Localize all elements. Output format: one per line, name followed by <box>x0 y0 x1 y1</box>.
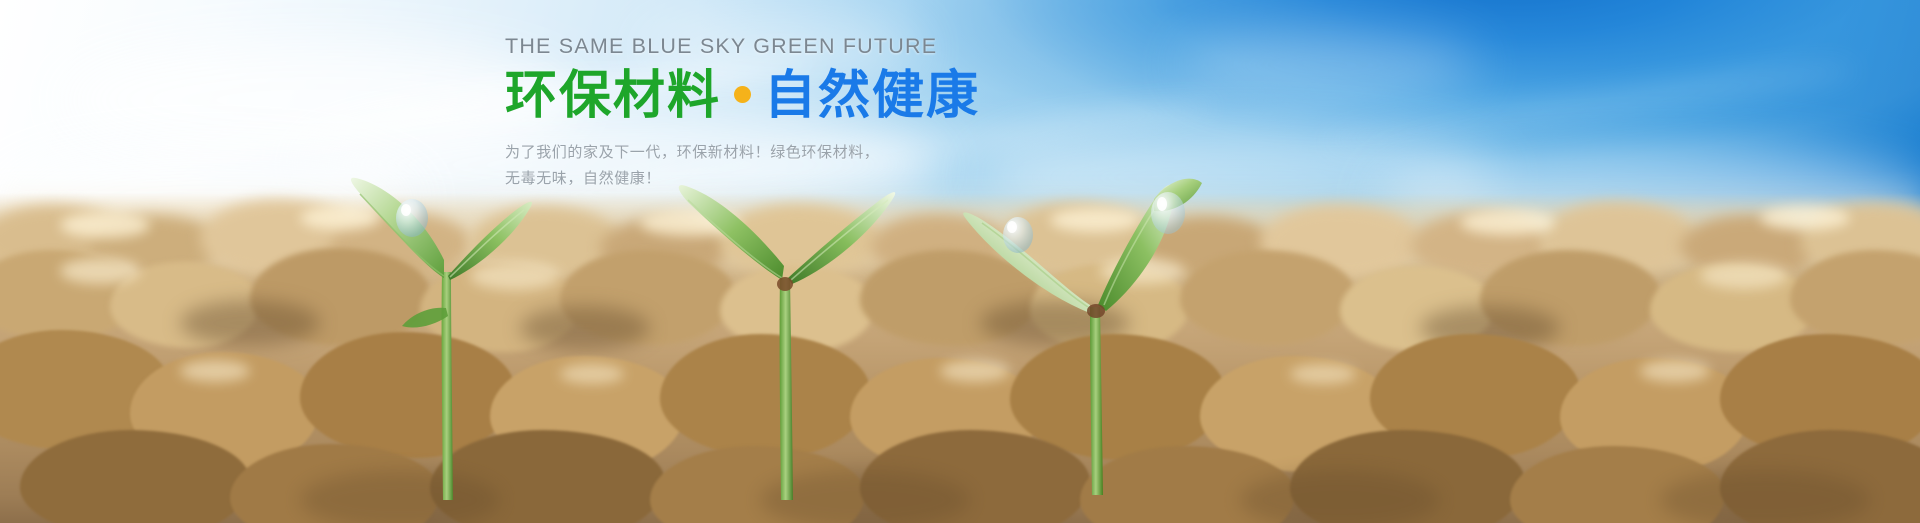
hero-subcopy: 为了我们的家及下一代，环保新材料！绿色环保材料， 无毒无味，自然健康！ <box>505 140 1065 193</box>
cloud-wisp <box>1180 30 1480 100</box>
hero-eyebrow: THE SAME BLUE SKY GREEN FUTURE <box>505 36 1065 58</box>
seedling-left <box>330 160 560 505</box>
hero-copy-block: THE SAME BLUE SKY GREEN FUTURE 环保材料自然健康 … <box>505 36 1065 192</box>
seedling-right <box>940 155 1240 500</box>
hero-subcopy-line-1: 为了我们的家及下一代，环保新材料！绿色环保材料， <box>505 140 1065 166</box>
hero-subcopy-line-2: 无毒无味，自然健康！ <box>505 166 1065 192</box>
cloud-streak <box>1321 59 1859 154</box>
hero-headline-part1: 环保材料 <box>505 67 721 125</box>
seedling-center <box>660 160 920 505</box>
eco-materials-hero-banner: THE SAME BLUE SKY GREEN FUTURE 环保材料自然健康 … <box>0 0 1920 523</box>
hero-headline-part2: 自然健康 <box>764 67 980 125</box>
headline-separator-dot-icon <box>734 86 751 103</box>
hero-headline: 环保材料自然健康 <box>505 70 1065 122</box>
